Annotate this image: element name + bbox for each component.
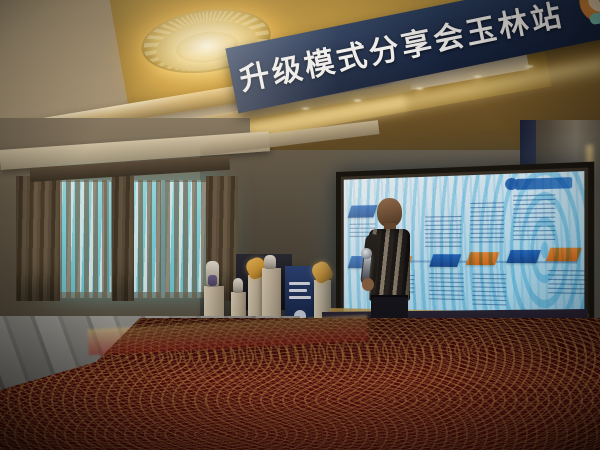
- sculpture: [264, 255, 276, 269]
- curtain-left: [16, 176, 60, 301]
- presenter-hand: [362, 278, 374, 291]
- ceiling-downlight: [524, 64, 535, 69]
- curtain-middle: [112, 176, 134, 301]
- sculpture-body: [233, 278, 243, 293]
- conference-hall-photo: 升级模式分享会玉林站: [0, 0, 600, 450]
- sheer-curtain: [48, 180, 220, 298]
- ceiling-downlight: [352, 98, 363, 103]
- sculpture: [233, 278, 243, 293]
- rollup-text-line: [289, 289, 307, 292]
- rollup-text-line: [289, 296, 311, 299]
- ceiling-downlight: [472, 74, 483, 79]
- sculpture-accent: [208, 275, 217, 286]
- ceiling-downlight: [300, 106, 311, 111]
- sculpture: [206, 261, 219, 287]
- microphone-head: [361, 248, 372, 259]
- rollup-text-line: [289, 282, 310, 285]
- pedestal: [262, 268, 281, 322]
- pedestal: [204, 286, 224, 320]
- ceiling-downlight: [414, 86, 425, 91]
- sculpture-body: [264, 255, 276, 269]
